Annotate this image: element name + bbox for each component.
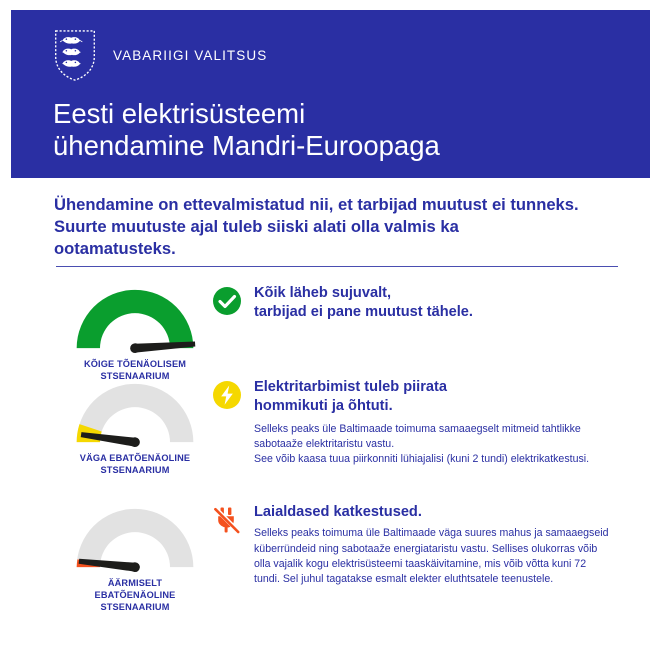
scenario-lead-very-unlikely: Elektritarbimist tuleb piirata hommikuti…	[254, 378, 612, 417]
check-circle-icon	[212, 286, 242, 316]
scenario-content-extremely-unlikely: Laialdased katkestused. Selleks peaks to…	[212, 503, 612, 587]
scenario-body-extremely-unlikely: Selleks peaks toimuma üle Baltimaade väg…	[254, 526, 612, 587]
gauge-most-likely	[65, 284, 205, 354]
scenario-body-very-unlikely: Selleks peaks üle Baltimaade toimuma sam…	[254, 422, 612, 468]
estonian-coat-of-arms-icon	[51, 28, 99, 82]
scenario-lead-extremely-unlikely: Laialdased katkestused.	[254, 503, 612, 522]
page-title: Eesti elektrisüsteemi ühendamine Mandri-…	[53, 98, 440, 162]
lightning-bolt-icon	[212, 380, 242, 410]
gauge-extremely-unlikely	[65, 503, 205, 573]
section-divider	[56, 266, 618, 267]
brand-lockup: Vabariigi Valitsus	[51, 28, 267, 82]
gauge-very-unlikely-group: VÄGA EBATÕENÄOLINE STSENAARIUM	[55, 378, 215, 476]
intro-paragraph: Ühendamine on ettevalmistatud nii, et ta…	[54, 194, 584, 260]
header-band: Vabariigi Valitsus Eesti elektrisüsteemi…	[11, 10, 650, 178]
gauge-extremely-unlikely-label: ÄÄRMISELT EBATÕENÄOLINE STSENAARIUM	[55, 577, 215, 613]
infographic-page: Vabariigi Valitsus Eesti elektrisüsteemi…	[0, 0, 650, 650]
gauge-most-likely-group: KÕIGE TÕENÄOLISEM STSENAARIUM	[55, 284, 215, 382]
scenario-lead-most-likely: Kõik läheb sujuvalt, tarbijad ei pane mu…	[254, 284, 612, 323]
brand-name: Vabariigi Valitsus	[113, 48, 267, 63]
gauge-very-unlikely-label: VÄGA EBATÕENÄOLINE STSENAARIUM	[55, 452, 215, 476]
gauge-extremely-unlikely-group: ÄÄRMISELT EBATÕENÄOLINE STSENAARIUM	[55, 503, 215, 613]
gauge-very-unlikely	[65, 378, 205, 448]
scenario-content-most-likely: Kõik läheb sujuvalt, tarbijad ei pane mu…	[212, 284, 612, 323]
plug-off-icon	[212, 505, 242, 535]
scenario-content-very-unlikely: Elektritarbimist tuleb piirata hommikuti…	[212, 378, 612, 468]
